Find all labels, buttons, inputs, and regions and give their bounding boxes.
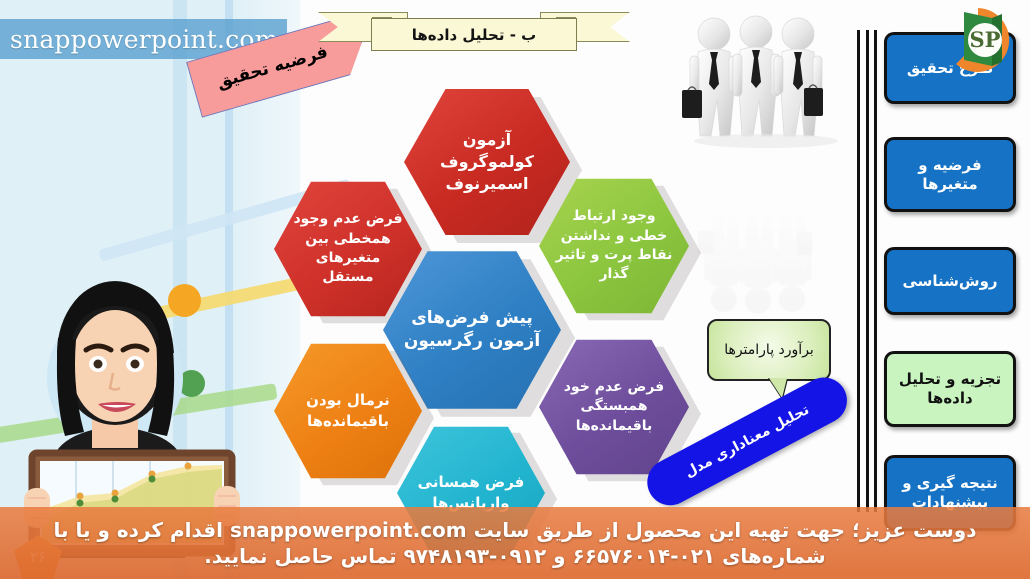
footer-promo-banner: دوست عزیز؛ جهت تهیه این محصول از طریق سا… — [0, 507, 1030, 579]
sidebar-item-data-analysis[interactable]: تجزیه و تحلیل داده‌ها — [884, 351, 1016, 427]
parameters-callout-label: برآورد پارامترها — [724, 342, 814, 358]
sp-logo: SP — [940, 2, 1016, 78]
sidebar-item-methodology[interactable]: روش‌شناسی — [884, 247, 1016, 315]
divider-line-3 — [874, 30, 877, 512]
sp-logo-text: SP — [970, 27, 1001, 52]
sidebar-item-hypotheses[interactable]: فرضیه و متغیرها — [884, 137, 1016, 212]
sidebar-item-methodology-label: روش‌شناسی — [902, 272, 997, 291]
businessmen-3d-image — [676, 8, 856, 168]
parameters-callout[interactable]: برآورد پارامترها — [707, 319, 831, 381]
sidebar-item-hypotheses-label: فرضیه و متغیرها — [893, 156, 1007, 194]
slide-canvas: snappowerpoint.com فرضیه تحقیق ب - تحلیل… — [0, 0, 1030, 579]
hexagon-regression-assumptions-label: پیش فرض‌های آزمون رگرسیون — [397, 307, 547, 354]
hexagon-linear-relation-label: وجود ارتباط خطی و نداشتن نقاط پرت و تاثی… — [553, 207, 675, 284]
footer-line-1: دوست عزیز؛ جهت تهیه این محصول از طریق سا… — [54, 518, 977, 542]
ribbon-banner: ب - تحلیل داده‌ها — [318, 4, 630, 62]
ribbon-body: ب - تحلیل داده‌ها — [371, 18, 577, 51]
businessmen-reflection — [676, 190, 856, 320]
hexagon-no-collinearity-label: فرض عدم وجود همخطی بین متغیرهای مستقل — [288, 210, 408, 287]
ribbon-title: ب - تحلیل داده‌ها — [412, 26, 536, 44]
hexagon-no-autocorrelation-label: فرض عدم خود همبستگی باقیمانده‌ها — [553, 378, 675, 436]
footer-line-2: شماره‌های ۰۲۱-۶۶۵۷۶۰۱۴ و ۰۹۱۲-۹۷۴۸۱۹۳ تم… — [204, 544, 825, 568]
divider-line-2 — [866, 30, 869, 512]
hexagon-kolmogorov-label: آزمون کولموگروف اسمیرنوف — [418, 129, 556, 195]
hexagon-normal-residuals-label: نرمال بودن باقیمانده‌ها — [288, 390, 408, 431]
sidebar-item-data-analysis-label: تجزیه و تحلیل داده‌ها — [893, 370, 1007, 408]
divider-line-1 — [857, 30, 860, 512]
